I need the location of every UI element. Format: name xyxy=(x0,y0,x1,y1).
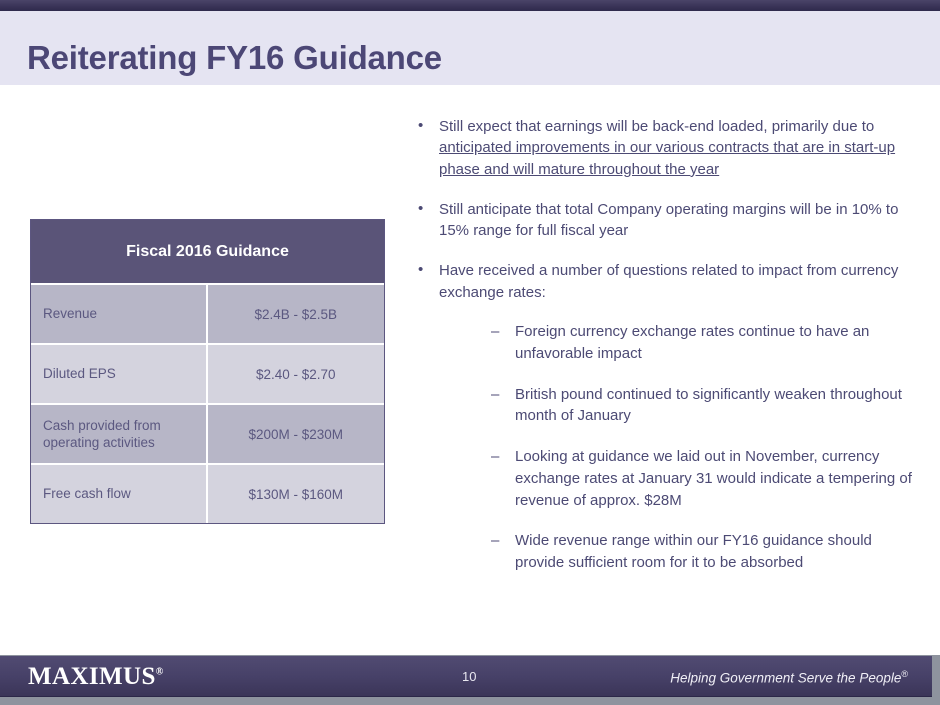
table-cell-value: $2.4B - $2.5B xyxy=(208,283,385,343)
maximus-logo: MAXIMUS® xyxy=(28,664,164,689)
table-row: Diluted EPS $2.40 - $2.70 xyxy=(31,343,384,403)
table-cell-label: Revenue xyxy=(31,283,208,343)
sub-bullet-marker: – xyxy=(491,384,499,406)
bullet-marker: • xyxy=(418,259,423,280)
bullet-item: •Still expect that earnings will be back… xyxy=(414,116,914,180)
bullet-marker: • xyxy=(418,115,423,136)
page-title: Reiterating FY16 Guidance xyxy=(27,39,442,77)
sub-bullet-marker: – xyxy=(491,321,499,343)
sub-bullet-item: –Wide revenue range within our FY16 guid… xyxy=(439,530,914,574)
logo-wordmark: MAXIMUS xyxy=(28,663,156,690)
sub-bullet-item: –Foreign currency exchange rates continu… xyxy=(439,321,914,365)
table-row: Revenue $2.4B - $2.5B xyxy=(31,283,384,343)
table-cell-label: Free cash flow xyxy=(31,463,208,523)
sub-bullet-text: Foreign currency exchange rates continue… xyxy=(515,323,869,362)
tagline-text: Helping Government Serve the People xyxy=(670,671,901,686)
table-header-title: Fiscal 2016 Guidance xyxy=(31,220,384,283)
bullet-text-plain: Still expect that earnings will be back-… xyxy=(439,118,874,135)
sub-bullet-text: Wide revenue range within our FY16 guida… xyxy=(515,532,872,571)
table-cell-value: $200M - $230M xyxy=(208,403,385,463)
bullet-item: •Have received a number of questions rel… xyxy=(414,260,914,573)
table-cell-label: Cash provided from operating activities xyxy=(31,403,208,463)
sub-bullet-marker: – xyxy=(491,446,499,468)
title-band: Reiterating FY16 Guidance xyxy=(0,11,940,85)
table-row: Free cash flow $130M - $160M xyxy=(31,463,384,523)
bullet-text: Have received a number of questions rela… xyxy=(439,262,898,300)
table-row: Cash provided from operating activities … xyxy=(31,403,384,463)
sub-bullet-text: British pound continued to significantly… xyxy=(515,386,902,425)
registered-mark-icon: ® xyxy=(156,667,164,678)
bullet-marker: • xyxy=(418,198,423,219)
guidance-table: Fiscal 2016 Guidance Revenue $2.4B - $2.… xyxy=(30,219,385,524)
sub-bullet-item: –Looking at guidance we laid out in Nove… xyxy=(439,446,914,511)
page-number: 10 xyxy=(462,669,476,684)
table-cell-label: Diluted EPS xyxy=(31,343,208,403)
bullet-text: Still anticipate that total Company oper… xyxy=(439,201,898,239)
bullet-text-underlined: anticipated improvements in our various … xyxy=(439,139,895,177)
slide: Reiterating FY16 Guidance Fiscal 2016 Gu… xyxy=(0,0,940,705)
footer-tagline: Helping Government Serve the People® xyxy=(670,669,908,686)
table-cell-value: $2.40 - $2.70 xyxy=(208,343,385,403)
sub-bullet-item: –British pound continued to significantl… xyxy=(439,384,914,428)
sub-bullet-list: –Foreign currency exchange rates continu… xyxy=(439,321,914,574)
table-cell-value: $130M - $160M xyxy=(208,463,385,523)
top-accent-bar xyxy=(0,0,940,11)
bullet-item: •Still anticipate that total Company ope… xyxy=(414,199,914,242)
bullet-list: •Still expect that earnings will be back… xyxy=(414,116,914,593)
sub-bullet-marker: – xyxy=(491,530,499,552)
sub-bullet-text: Looking at guidance we laid out in Novem… xyxy=(515,448,912,509)
registered-mark-icon: ® xyxy=(901,669,908,679)
